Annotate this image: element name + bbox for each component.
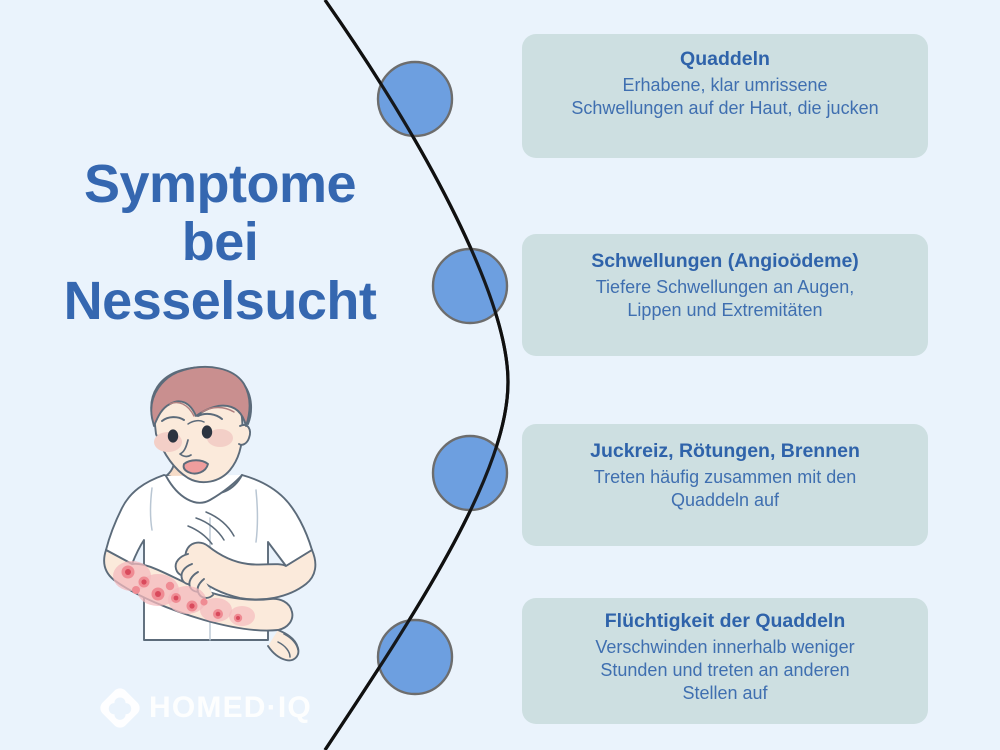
brand-logo: HOMED·IQ xyxy=(100,688,312,728)
symptom-card-4: Flüchtigkeit der Quaddeln Verschwinden i… xyxy=(522,598,928,724)
infographic-root: Symptome bei Nesselsucht Quaddeln Erhabe… xyxy=(0,0,1000,750)
person-scratching-arm-illustration xyxy=(92,358,332,708)
symptom-card-4-title: Flüchtigkeit der Quaddeln xyxy=(538,609,912,633)
brand-logo-text: HOMED·IQ xyxy=(149,693,312,723)
symptom-card-1-body: Erhabene, klar umrissene Schwellungen au… xyxy=(538,74,912,120)
symptom-card-3-body: Treten häufig zusammen mit den Quaddeln … xyxy=(538,466,912,512)
symptom-card-2-body: Tiefere Schwellungen an Augen, Lippen un… xyxy=(538,276,912,322)
homediq-clover-icon xyxy=(100,688,140,728)
symptom-card-2: Schwellungen (Angioödeme) Tiefere Schwel… xyxy=(522,234,928,356)
symptom-card-4-body: Verschwinden innerhalb weniger Stunden u… xyxy=(538,636,912,705)
symptom-card-1-title: Quaddeln xyxy=(538,47,912,71)
symptom-card-3: Juckreiz, Rötungen, Brennen Treten häufi… xyxy=(522,424,928,546)
symptom-card-2-title: Schwellungen (Angioödeme) xyxy=(538,249,912,273)
node-marker-4 xyxy=(378,620,452,694)
symptom-card-1: Quaddeln Erhabene, klar umrissene Schwel… xyxy=(522,34,928,158)
symptom-card-3-title: Juckreiz, Rötungen, Brennen xyxy=(538,439,912,463)
